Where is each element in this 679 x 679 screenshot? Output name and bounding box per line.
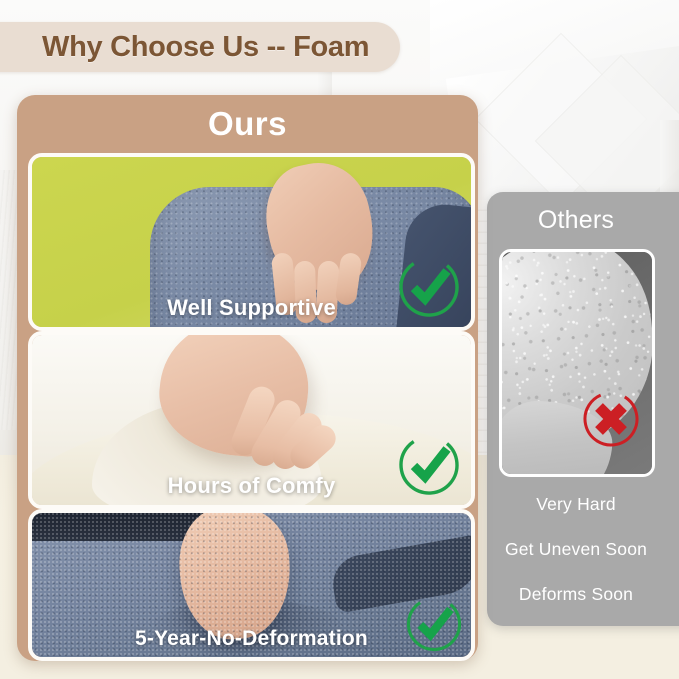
others-list-item: Get Uneven Soon <box>487 527 665 572</box>
check-mark-icon <box>395 253 463 321</box>
ours-panel: Ours Well Supportive <box>17 95 478 661</box>
others-list-item: Deforms Soon <box>487 572 665 617</box>
ours-feature-card: Well Supportive <box>28 153 475 331</box>
ours-panel-title: Ours <box>17 105 478 143</box>
others-drawback-list: Very Hard Get Uneven Soon Deforms Soon <box>487 482 665 617</box>
hand <box>176 509 295 643</box>
cross-mark-icon <box>580 388 642 450</box>
others-panel-title: Others <box>487 206 665 235</box>
chair-frame <box>32 513 252 541</box>
others-list-item: Very Hard <box>487 482 665 527</box>
check-mark-icon <box>395 431 463 499</box>
finger <box>294 261 317 324</box>
ours-feature-card: Hours of Comfy <box>28 331 475 509</box>
page-title: Why Choose Us -- Foam <box>42 31 369 64</box>
others-panel: Others Very Hard Get Uneven Soon Deforms… <box>487 192 679 626</box>
check-mark-icon <box>403 593 465 655</box>
header-banner: Why Choose Us -- Foam <box>0 22 400 72</box>
infographic-canvas: Others Very Hard Get Uneven Soon Deforms… <box>0 0 679 679</box>
press-shadow <box>152 599 342 655</box>
ours-feature-card: 5-Year-No-Deformation <box>28 509 475 661</box>
